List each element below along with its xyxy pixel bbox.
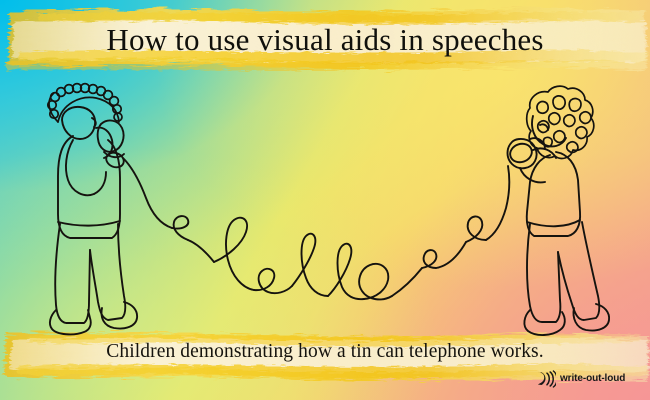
left-child-hair <box>48 84 122 122</box>
string-spelling-hello <box>123 158 509 299</box>
left-child-figure <box>48 84 137 335</box>
right-child-hair <box>527 86 594 158</box>
left-child-arm-lower <box>66 140 94 195</box>
banner-graphic: How to use visual aids in speeches Child… <box>0 0 650 400</box>
left-child-waistband <box>58 221 120 226</box>
site-logo[interactable]: write-out-loud <box>536 370 625 388</box>
image-caption: Children demonstrating how a tin can tel… <box>0 340 650 364</box>
left-child-head <box>62 107 95 139</box>
logo-text: write-out-loud <box>560 374 625 384</box>
left-child-shoe-right <box>102 302 138 329</box>
right-child-leg-left <box>527 224 560 322</box>
right-child-figure <box>508 86 610 335</box>
page-title: How to use visual aids in speeches <box>0 22 650 58</box>
right-child-waistband <box>527 220 580 226</box>
sound-wave-icon <box>536 370 556 388</box>
